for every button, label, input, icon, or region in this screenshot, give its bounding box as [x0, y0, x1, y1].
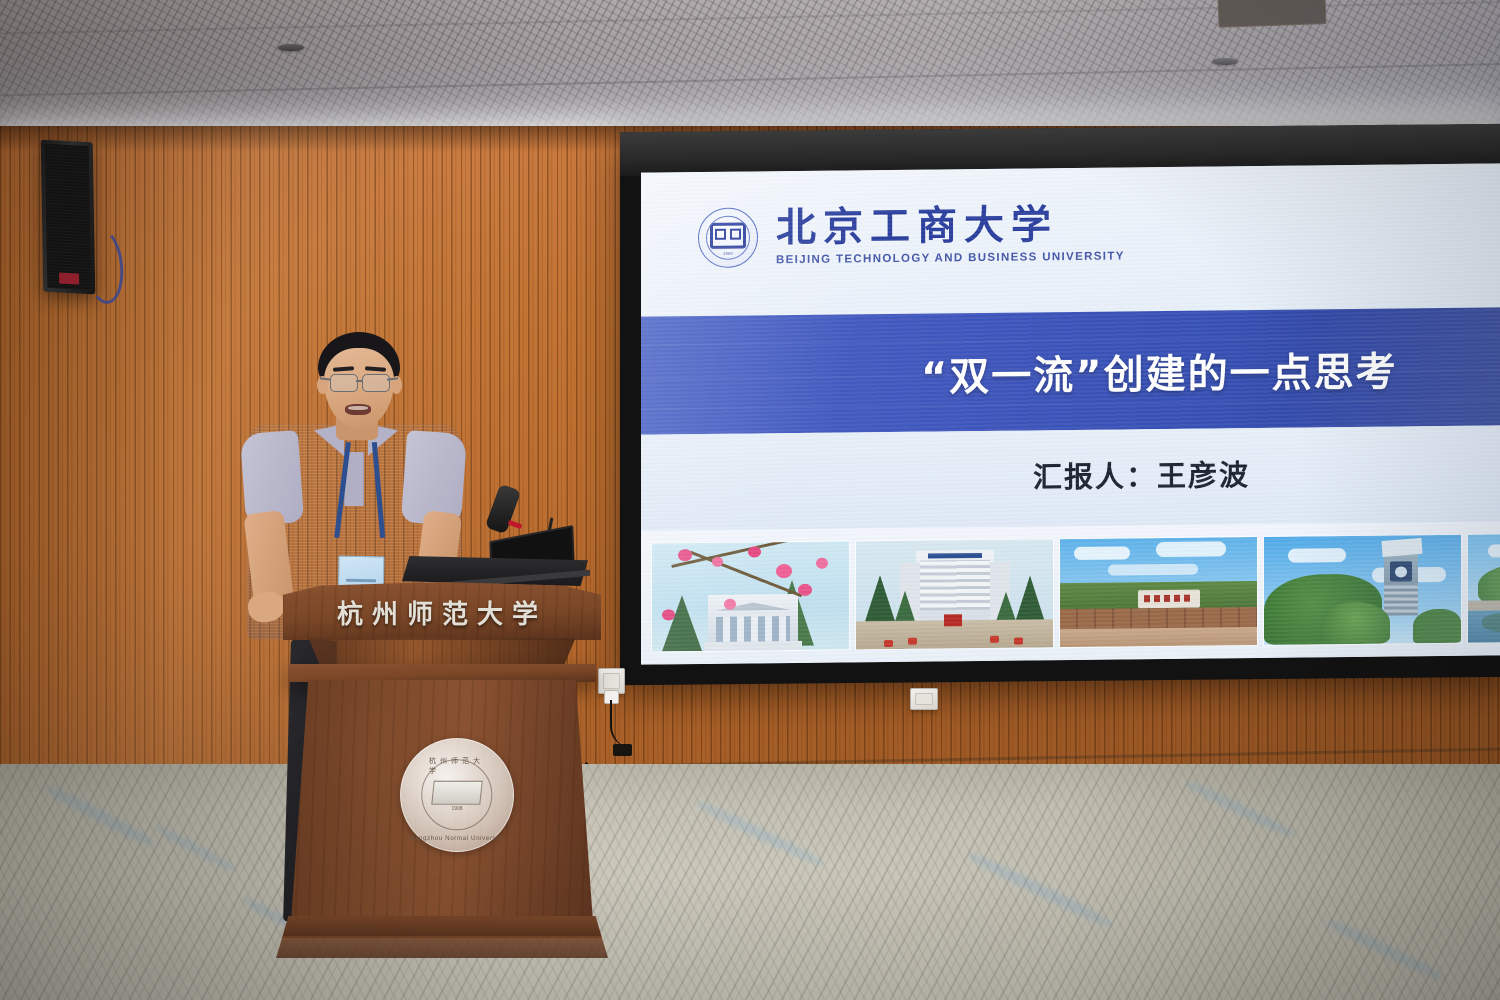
carpet-floor	[0, 764, 1500, 1000]
podium-floor-shadow-block	[276, 936, 608, 958]
presentation-slide: 1950 北京工商大学 BEIJING TECHNOLOGY AND BUSIN…	[641, 163, 1500, 664]
jbl-logo-badge	[59, 273, 79, 285]
eyeglasses-bridge	[356, 380, 363, 382]
podium-engraved-name: 杭州师范大学	[283, 594, 601, 631]
seal-book-emblem	[431, 781, 483, 805]
presentation-hall-photo: 1950 北京工商大学 BEIJING TECHNOLOGY AND BUSIN…	[0, 0, 1500, 1000]
podium-base-cap	[288, 664, 596, 682]
seal-name-cn: 杭州师范大学	[429, 756, 485, 776]
campus-photo-strip	[651, 532, 1500, 653]
podium-plinth	[282, 916, 602, 938]
university-seal-icon: 杭州师范大学 1908 Hangzhou Normal University	[400, 738, 514, 852]
slide-title: “双一流”创建的一点思考	[921, 339, 1398, 402]
campus-photo	[1263, 534, 1462, 646]
slide-presenter: 汇报人：王彦波	[1033, 452, 1250, 496]
perforated-acoustic-ceiling	[0, 0, 1500, 132]
slide-brand-row: 1950 北京工商大学 BEIJING TECHNOLOGY AND BUSIN…	[698, 203, 1125, 268]
wall-outlet-right[interactable]	[910, 688, 938, 710]
seal-year: 1908	[451, 806, 462, 812]
campus-photo	[1059, 536, 1258, 648]
university-name-cn: 北京工商大学	[776, 204, 1125, 248]
university-emblem-icon: 1950	[698, 207, 758, 268]
eyeglasses-left-lens	[330, 374, 358, 392]
campus-photo	[855, 538, 1054, 650]
eyeglasses-right-lens	[362, 374, 390, 392]
campus-photo	[1467, 532, 1500, 644]
emblem-year-label: 1950	[723, 251, 733, 256]
university-name-en: BEIJING TECHNOLOGY AND BUSINESS UNIVERSI…	[776, 250, 1125, 266]
teeth	[348, 406, 368, 410]
seal-name-en: Hangzhou Normal University	[410, 835, 504, 842]
campus-photo	[651, 540, 850, 652]
